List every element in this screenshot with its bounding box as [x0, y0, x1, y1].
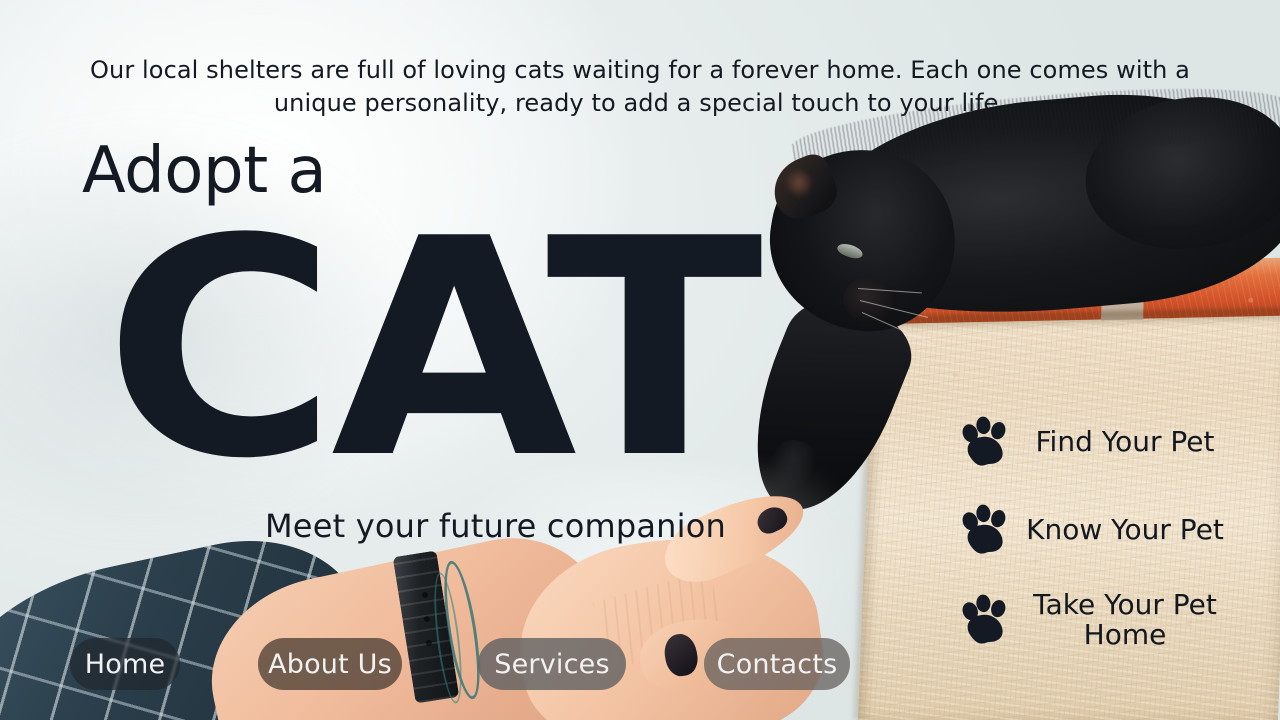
- hero-banner: Our local shelters are full of loving ca…: [0, 0, 1280, 720]
- feature-item-know-your-pet[interactable]: Know Your Pet: [958, 502, 1226, 558]
- paw-print-icon: [958, 414, 1014, 470]
- nav-item-about-us[interactable]: About Us: [258, 638, 402, 690]
- headline-large: CAT: [104, 200, 757, 500]
- feature-label: Find Your Pet: [1024, 427, 1226, 457]
- paw-print-icon: [958, 502, 1014, 558]
- nav-item-services[interactable]: Services: [478, 638, 626, 690]
- nav-item-contacts[interactable]: Contacts: [704, 638, 850, 690]
- tagline: Meet your future companion: [265, 510, 726, 542]
- feature-label: Know Your Pet: [1024, 515, 1226, 545]
- nav-item-home[interactable]: Home: [70, 638, 180, 690]
- feature-item-find-your-pet[interactable]: Find Your Pet: [958, 414, 1226, 470]
- main-navigation: Home About Us Services Contacts: [0, 638, 1280, 692]
- intro-paragraph: Our local shelters are full of loving ca…: [80, 54, 1200, 119]
- feature-list: Find Your Pet Know Your Pet: [958, 414, 1226, 650]
